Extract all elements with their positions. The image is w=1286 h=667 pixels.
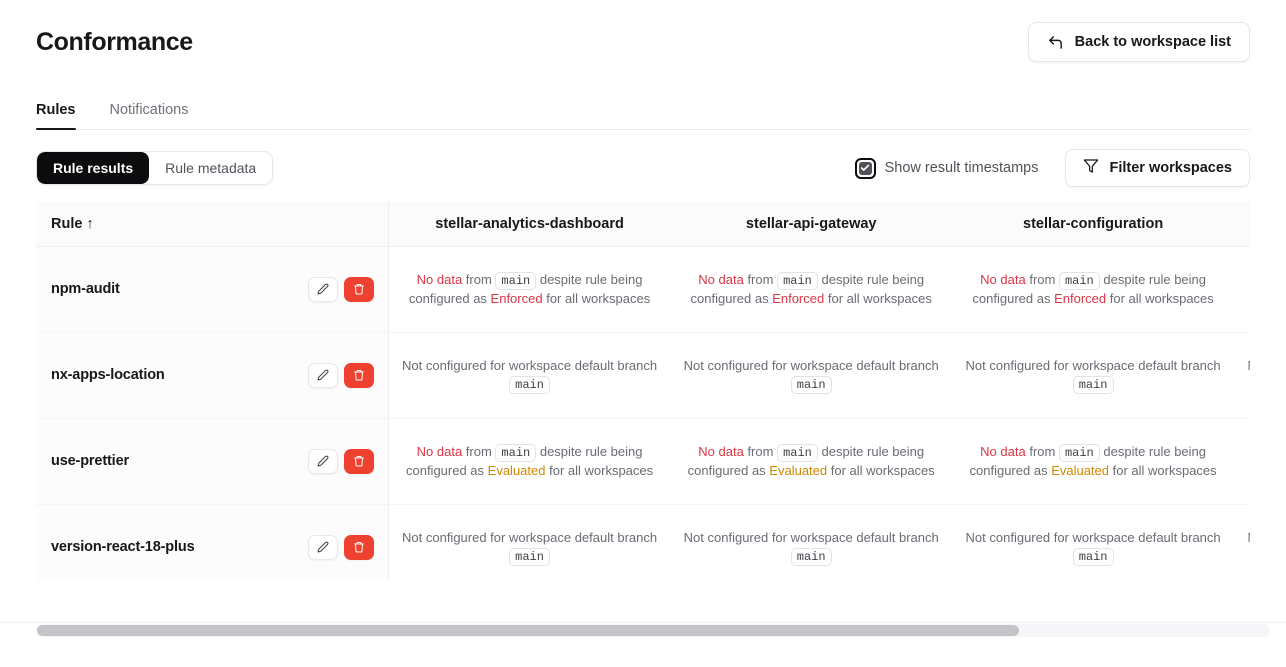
result-message: Not configured for workspace default bra… xyxy=(389,357,670,394)
view-mode-segmented-control[interactable]: Rule results Rule metadata xyxy=(36,151,273,185)
show-result-timestamps-row[interactable]: Show result timestamps xyxy=(855,158,1039,179)
tab-notifications[interactable]: Notifications xyxy=(96,98,203,130)
no-data-token: No data xyxy=(980,272,1026,287)
trash-icon xyxy=(353,541,365,553)
rule-name: use-prettier xyxy=(51,453,129,469)
segment-rule-metadata[interactable]: Rule metadata xyxy=(149,152,272,184)
tab-notifications-label: Notifications xyxy=(110,102,189,118)
edit-rule-button[interactable] xyxy=(308,277,338,302)
rule-status-token: Evaluated xyxy=(488,463,546,478)
rules-results-table-viewport: Rule↑ stellar-analytics-dashboard stella… xyxy=(36,202,1250,580)
row-actions xyxy=(308,535,374,560)
no-data-token: No data xyxy=(417,272,463,287)
edit-rule-button[interactable] xyxy=(308,535,338,560)
result-message: Not configured for workspace default bra… xyxy=(1234,357,1250,394)
no-data-token: No data xyxy=(417,444,463,459)
result-message: Not configured for workspace default bra… xyxy=(952,357,1234,394)
conformance-page: Conformance Back to workspace list Rules… xyxy=(0,0,1286,667)
table-body: npm-auditNo data from main despite rule … xyxy=(36,246,1250,580)
footer-divider xyxy=(0,622,1286,623)
row-actions xyxy=(308,277,374,302)
rule-status-token: Enforced xyxy=(1054,291,1106,306)
funnel-icon xyxy=(1083,158,1099,178)
table-toolbar: Rule results Rule metadata Show result t… xyxy=(0,130,1286,187)
result-message: Not configured for workspace default bra… xyxy=(389,529,670,566)
result-cell: No data from main despite rule being con… xyxy=(388,418,670,504)
no-data-token: No data xyxy=(980,444,1026,459)
column-header-rule-label: Rule xyxy=(51,216,82,232)
branch-chip: main xyxy=(1059,444,1100,462)
column-header-workspace-2[interactable]: stellar-configuration xyxy=(952,202,1234,246)
branch-chip: main xyxy=(1073,548,1114,566)
show-result-timestamps-label: Show result timestamps xyxy=(885,160,1039,176)
pencil-icon xyxy=(317,455,329,467)
branch-chip: main xyxy=(791,548,832,566)
branch-chip: main xyxy=(777,272,818,290)
filter-workspaces-label: Filter workspaces xyxy=(1110,160,1233,176)
result-cell: No data from main despite rule being con… xyxy=(1234,246,1250,332)
delete-rule-button[interactable] xyxy=(344,535,374,560)
rule-status-token: Enforced xyxy=(491,291,543,306)
branch-chip: main xyxy=(495,444,536,462)
trash-icon xyxy=(353,455,365,467)
result-cell: No data from main despite rule being con… xyxy=(670,418,952,504)
column-header-rule[interactable]: Rule↑ xyxy=(36,202,388,246)
rule-status-token: Enforced xyxy=(772,291,824,306)
rules-results-table: Rule↑ stellar-analytics-dashboard stella… xyxy=(36,202,1250,580)
rule-cell: nx-apps-location xyxy=(36,332,388,418)
result-cell: No data from main despite rule being con… xyxy=(1234,418,1250,504)
horizontal-scrollbar-thumb[interactable] xyxy=(37,625,1019,636)
result-cell: Not configured for workspace default bra… xyxy=(1234,504,1250,580)
rule-status-token: Evaluated xyxy=(1051,463,1109,478)
result-message: No data from main despite rule being con… xyxy=(670,443,952,480)
branch-chip: main xyxy=(791,376,832,394)
trash-icon xyxy=(353,369,365,381)
result-cell: No data from main despite rule being con… xyxy=(952,246,1234,332)
no-data-token: No data xyxy=(698,272,744,287)
row-actions xyxy=(308,449,374,474)
result-message: No data from main despite rule being con… xyxy=(389,443,670,480)
result-cell: Not configured for workspace default bra… xyxy=(670,504,952,580)
branch-chip: main xyxy=(509,376,550,394)
segment-rule-metadata-label: Rule metadata xyxy=(165,160,256,176)
result-cell: Not configured for workspace default bra… xyxy=(388,332,670,418)
page-title: Conformance xyxy=(36,25,193,59)
filter-workspaces-button[interactable]: Filter workspaces xyxy=(1065,149,1251,187)
checkmark-icon xyxy=(859,162,872,175)
table-row: version-react-18-plusNot configured for … xyxy=(36,504,1250,580)
table-row: nx-apps-locationNot configured for works… xyxy=(36,332,1250,418)
result-message: No data from main despite rule being con… xyxy=(670,271,952,308)
edit-rule-button[interactable] xyxy=(308,449,338,474)
rule-cell: use-prettier xyxy=(36,418,388,504)
rule-cell: version-react-18-plus xyxy=(36,504,388,580)
branch-chip: main xyxy=(1073,376,1114,394)
column-header-workspace-0[interactable]: stellar-analytics-dashboard xyxy=(388,202,670,246)
table-header-row: Rule↑ stellar-analytics-dashboard stella… xyxy=(36,202,1250,246)
column-header-workspace-1[interactable]: stellar-api-gateway xyxy=(670,202,952,246)
result-cell: Not configured for workspace default bra… xyxy=(388,504,670,580)
result-message: Not configured for workspace default bra… xyxy=(952,529,1234,566)
tab-rules-label: Rules xyxy=(36,102,76,118)
pencil-icon xyxy=(317,541,329,553)
back-arrow-icon xyxy=(1047,34,1064,51)
no-data-token: No data xyxy=(698,444,744,459)
row-actions xyxy=(308,363,374,388)
delete-rule-button[interactable] xyxy=(344,363,374,388)
pencil-icon xyxy=(317,283,329,295)
result-message: No data from main despite rule being con… xyxy=(952,271,1234,308)
tab-rules[interactable]: Rules xyxy=(36,98,90,130)
segment-rule-results-label: Rule results xyxy=(53,160,133,176)
horizontal-scrollbar-track[interactable] xyxy=(36,624,1270,637)
result-message: No data from main despite rule being con… xyxy=(389,271,670,308)
result-message: No data from main despite rule being con… xyxy=(1234,271,1250,308)
branch-chip: main xyxy=(495,272,536,290)
rule-status-token: Evaluated xyxy=(769,463,827,478)
trash-icon xyxy=(353,283,365,295)
result-message: No data from main despite rule being con… xyxy=(1234,443,1250,480)
branch-chip: main xyxy=(1059,272,1100,290)
segment-rule-results[interactable]: Rule results xyxy=(37,152,149,184)
result-message: Not configured for workspace default bra… xyxy=(670,357,952,394)
result-cell: No data from main despite rule being con… xyxy=(952,418,1234,504)
result-cell: No data from main despite rule being con… xyxy=(388,246,670,332)
branch-chip: main xyxy=(509,548,550,566)
table-head: Rule↑ stellar-analytics-dashboard stella… xyxy=(36,202,1250,246)
back-button-label: Back to workspace list xyxy=(1075,34,1231,50)
pencil-icon xyxy=(317,369,329,381)
table-row: use-prettierNo data from main despite ru… xyxy=(36,418,1250,504)
tabs-bar: Rules Notifications xyxy=(0,98,1286,130)
result-message: Not configured for workspace default bra… xyxy=(670,529,952,566)
edit-rule-button[interactable] xyxy=(308,363,338,388)
rule-name: nx-apps-location xyxy=(51,367,165,383)
rule-cell: npm-audit xyxy=(36,246,388,332)
result-cell: Not configured for workspace default bra… xyxy=(670,332,952,418)
back-to-workspace-list-button[interactable]: Back to workspace list xyxy=(1028,22,1250,62)
delete-rule-button[interactable] xyxy=(344,449,374,474)
sort-ascending-icon: ↑ xyxy=(86,216,93,232)
rule-name: version-react-18-plus xyxy=(51,539,195,555)
table-row: npm-auditNo data from main despite rule … xyxy=(36,246,1250,332)
page-header: Conformance Back to workspace list xyxy=(0,0,1286,62)
column-header-workspace-3[interactable]: stellar-design-system xyxy=(1234,202,1250,246)
delete-rule-button[interactable] xyxy=(344,277,374,302)
branch-chip: main xyxy=(777,444,818,462)
show-result-timestamps-checkbox[interactable] xyxy=(855,158,876,179)
result-message: Not configured for workspace default bra… xyxy=(1234,529,1250,566)
result-cell: No data from main despite rule being con… xyxy=(670,246,952,332)
result-message: No data from main despite rule being con… xyxy=(952,443,1234,480)
result-cell: Not configured for workspace default bra… xyxy=(952,504,1234,580)
result-cell: Not configured for workspace default bra… xyxy=(1234,332,1250,418)
result-cell: Not configured for workspace default bra… xyxy=(952,332,1234,418)
rule-name: npm-audit xyxy=(51,281,120,297)
